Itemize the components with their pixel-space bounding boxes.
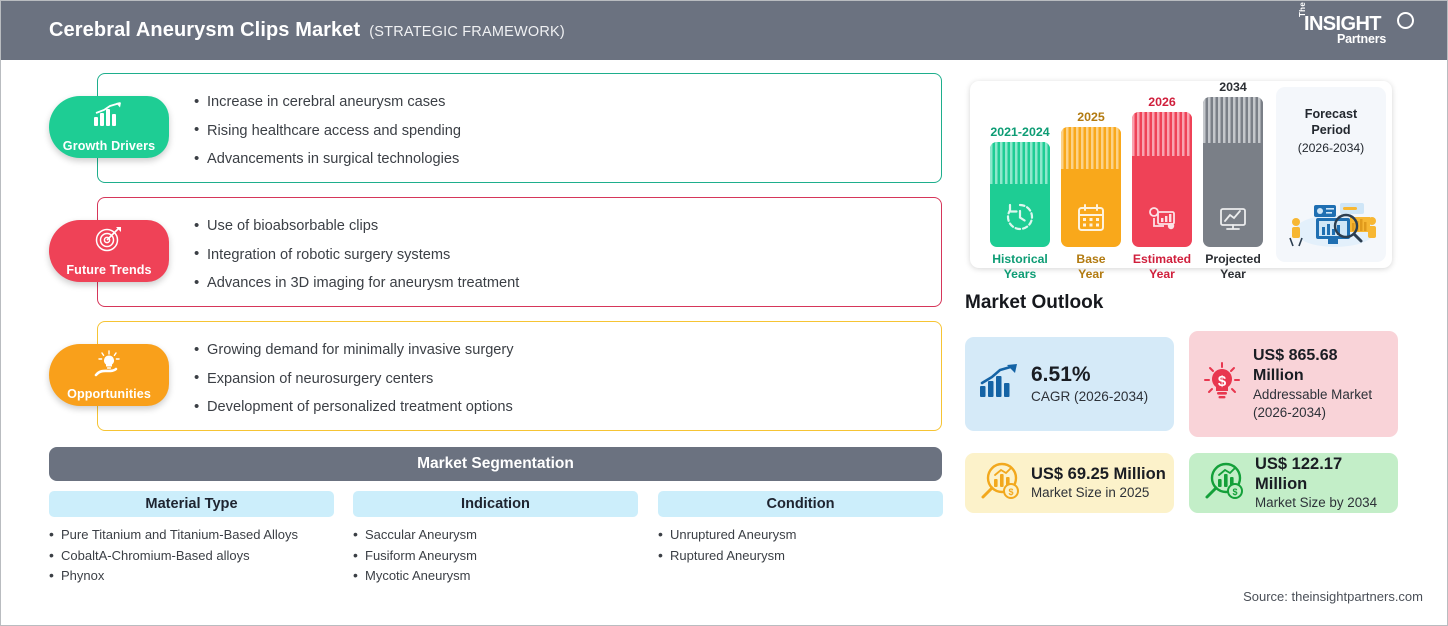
- lightbulb-hand-icon: [91, 350, 127, 383]
- list-item: Advancements in surgical technologies: [194, 145, 941, 174]
- forecast-timeline-panel: 2021-2024 Historical Years 2025: [970, 81, 1392, 268]
- list-item: Saccular Aneurysm: [353, 525, 638, 546]
- list-item: Ruptured Aneurysm: [658, 546, 943, 567]
- framework-bullet-list: Use of bioabsorbable clips Integration o…: [98, 198, 941, 298]
- outlook-cagr-value: 6.51%: [1031, 363, 1148, 387]
- segmentation-column-condition: Condition Unruptured Aneurysm Ruptured A…: [658, 491, 943, 566]
- header-title-main: Cerebral Aneurysm Clips Market: [49, 19, 360, 42]
- outlook-addressable-value-line2: Million: [1253, 366, 1372, 386]
- magnifier-chart-icon: $: [1202, 461, 1244, 506]
- segmentation-column-title: Material Type: [49, 491, 334, 517]
- framework-bullet-list: Growing demand for minimally invasive su…: [98, 322, 941, 422]
- target-dart-icon: [94, 226, 124, 257]
- list-item: Expansion of neurosurgery centers: [194, 365, 941, 394]
- outlook-2034-value: US$ 122.17 Million: [1255, 454, 1398, 494]
- outlook-card-cagr: 6.51% CAGR (2026-2034): [965, 337, 1174, 431]
- page-title: Cerebral Aneurysm Clips Market (STRATEGI…: [49, 19, 565, 42]
- logo-partners-text: Partners: [1337, 32, 1386, 46]
- timeline-year-label: 2021-2024: [984, 125, 1056, 139]
- forecast-period-block: Forecast Period (2026-2034): [1276, 87, 1386, 262]
- forecast-label-line2: Period: [1276, 122, 1386, 138]
- list-item: Phynox: [49, 566, 334, 587]
- timeline-bar: [1132, 112, 1192, 247]
- infographic-canvas: Cerebral Aneurysm Clips Market (STRATEGI…: [0, 0, 1448, 626]
- timeline-name-line2: Year: [1126, 267, 1198, 282]
- timeline-bar-hatch: [990, 142, 1050, 184]
- segmentation-item-list: Saccular Aneurysm Fusiform Aneurysm Myco…: [353, 525, 638, 587]
- timeline-bar: [1203, 97, 1263, 247]
- timeline-name-line2: Year: [1197, 267, 1269, 282]
- list-item: Pure Titanium and Titanium-Based Alloys: [49, 525, 334, 546]
- badge-opportunities: Opportunities: [49, 344, 169, 406]
- logo-ring-icon: [1397, 12, 1414, 29]
- outlook-addressable-label-line1: Addressable Market: [1253, 386, 1372, 404]
- timeline-year-label: 2026: [1126, 95, 1198, 109]
- badge-label: Future Trends: [66, 263, 151, 277]
- timeline-bar-hatch: [1132, 112, 1192, 156]
- timeline-name-line1: Base: [1055, 252, 1127, 267]
- market-outlook-title: Market Outlook: [965, 292, 1103, 314]
- outlook-cagr-label: CAGR (2026-2034): [1031, 387, 1148, 406]
- timeline-column-base: 2025 Base Year: [1055, 110, 1127, 281]
- header-bar: Cerebral Aneurysm Clips Market (STRATEGI…: [1, 1, 1447, 60]
- list-item: Use of bioabsorbable clips: [194, 212, 941, 241]
- timeline-name-line2: Years: [984, 267, 1056, 282]
- timeline-bar-hatch: [1061, 127, 1121, 169]
- outlook-addressable-label-line2: (2026-2034): [1253, 404, 1372, 422]
- bulb-dollar-icon: $: [1202, 361, 1242, 408]
- segmentation-column-indication: Indication Saccular Aneurysm Fusiform An…: [353, 491, 638, 587]
- timeline-name-line1: Historical: [984, 252, 1056, 267]
- list-item: Increase in cerebral aneurysm cases: [194, 88, 941, 117]
- timeline-bar: [1061, 127, 1121, 247]
- outlook-card-market-size-2025: $ US$ 69.25 Million Market Size in 2025: [965, 453, 1174, 513]
- framework-card-opportunities: Growing demand for minimally invasive su…: [97, 321, 942, 431]
- header-title-subtitle: (STRATEGIC FRAMEWORK): [369, 24, 565, 40]
- calendar-icon: [1077, 204, 1105, 237]
- timeline-year-label: 2034: [1197, 80, 1269, 94]
- timeline-name-line1: Projected: [1197, 252, 1269, 267]
- segmentation-column-title: Indication: [353, 491, 638, 517]
- forecast-range: (2026-2034): [1276, 141, 1386, 155]
- history-clock-icon: [1005, 202, 1035, 237]
- timeline-bar: [990, 142, 1050, 247]
- outlook-card-market-size-2034: $ US$ 122.17 Million Market Size by 2034: [1189, 453, 1398, 513]
- list-item: CobaltA-Chromium-Based alloys: [49, 546, 334, 567]
- outlook-addressable-value-line1: US$ 865.68: [1253, 346, 1372, 366]
- badge-growth-drivers: Growth Drivers: [49, 96, 169, 158]
- timeline-bar-hatch: [1203, 97, 1263, 143]
- presentation-chart-icon: [1218, 206, 1248, 237]
- insight-partners-logo: The INSIGHT Partners: [1295, 11, 1423, 51]
- timeline-column-historical: 2021-2024 Historical Years: [984, 125, 1056, 281]
- framework-bullet-list: Increase in cerebral aneurysm cases Risi…: [98, 74, 941, 174]
- market-segmentation-header: Market Segmentation: [49, 447, 942, 481]
- svg-text:$: $: [1218, 373, 1227, 390]
- timeline-column-projected: 2034 Projected Year: [1197, 80, 1269, 281]
- list-item: Fusiform Aneurysm: [353, 546, 638, 567]
- segmentation-column-title: Condition: [658, 491, 943, 517]
- list-item: Integration of robotic surgery systems: [194, 241, 941, 270]
- badge-label: Growth Drivers: [63, 139, 155, 153]
- timeline-name-line1: Estimated: [1126, 252, 1198, 267]
- timeline-column-estimated: 2026 Estimated Year: [1126, 95, 1198, 281]
- market-segmentation-title: Market Segmentation: [417, 455, 574, 473]
- outlook-card-addressable-market: $ US$ 865.68 Million Addressable Market …: [1189, 331, 1398, 437]
- magnifier-chart-icon: $: [978, 461, 1020, 506]
- svg-text:$: $: [1008, 487, 1013, 497]
- segmentation-item-list: Unruptured Aneurysm Ruptured Aneurysm: [658, 525, 943, 566]
- forecast-label-line1: Forecast: [1276, 106, 1386, 122]
- list-item: Mycotic Aneurysm: [353, 566, 638, 587]
- list-item: Unruptured Aneurysm: [658, 525, 943, 546]
- svg-text:$: $: [1232, 487, 1237, 497]
- list-item: Growing demand for minimally invasive su…: [194, 336, 941, 365]
- timeline-name-line2: Year: [1055, 267, 1127, 282]
- growth-chart-icon: [978, 364, 1020, 405]
- timeline-year-label: 2025: [1055, 110, 1127, 124]
- list-item: Rising healthcare access and spending: [194, 117, 941, 146]
- segmentation-column-material-type: Material Type Pure Titanium and Titanium…: [49, 491, 334, 587]
- segmentation-item-list: Pure Titanium and Titanium-Based Alloys …: [49, 525, 334, 587]
- outlook-2025-value: US$ 69.25 Million: [1031, 464, 1166, 484]
- list-item: Development of personalized treatment op…: [194, 393, 941, 422]
- badge-future-trends: Future Trends: [49, 220, 169, 282]
- outlook-2034-label: Market Size by 2034: [1255, 494, 1398, 512]
- list-item: Advances in 3D imaging for aneurysm trea…: [194, 269, 941, 298]
- badge-label: Opportunities: [67, 387, 151, 401]
- framework-card-growth-drivers: Increase in cerebral aneurysm cases Risi…: [97, 73, 942, 183]
- data-analysis-illustration: [1280, 191, 1382, 254]
- analytics-gear-icon: [1147, 206, 1177, 237]
- framework-card-future-trends: Use of bioabsorbable clips Integration o…: [97, 197, 942, 307]
- bar-chart-growth-icon: [92, 102, 126, 133]
- source-attribution: Source: theinsightpartners.com: [1243, 589, 1423, 604]
- outlook-2025-label: Market Size in 2025: [1031, 484, 1166, 502]
